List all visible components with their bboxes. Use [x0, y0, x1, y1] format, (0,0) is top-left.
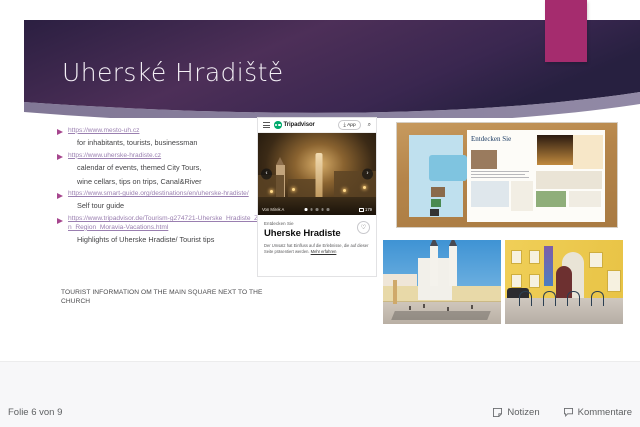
disclaimer-link[interactable]: Mehr erfahren — [311, 249, 337, 254]
triangle-bullet-icon — [57, 190, 68, 199]
yellow-building-photo — [505, 240, 623, 324]
slide-counter: Folie 6 von 9 — [8, 407, 62, 418]
list-item-description: wine cellars, tips on trips, Canal&River — [77, 177, 262, 187]
flyer-thumb — [431, 199, 441, 207]
photo-count-label: 179 — [365, 207, 372, 212]
bike-rack — [591, 291, 604, 306]
window — [607, 270, 621, 292]
brochure-photo-hands — [471, 181, 509, 207]
link-tripadvisor[interactable]: https://www.tripadvisor.de/Tourism-g2747… — [68, 215, 262, 232]
square-ground — [258, 197, 376, 215]
street-light — [343, 189, 346, 192]
triangle-bullet-icon — [57, 215, 68, 224]
plaza-shadow — [391, 311, 491, 320]
tripadvisor-brand-label: Tripadvisor — [284, 122, 315, 128]
status-bar: Folie 6 von 9 Notizen — [0, 361, 640, 427]
pedestrian — [423, 304, 425, 308]
download-icon: ⤓ — [343, 122, 345, 128]
bike-rack — [567, 291, 580, 306]
brochure-text-block — [569, 191, 601, 207]
link-mesto-uh[interactable]: https://www.mesto-uh.cz — [68, 126, 139, 135]
tourist-info-note: TOURIST INFORMATION OM THE MAIN SQUARE N… — [61, 288, 276, 306]
tripadvisor-body: Entdecken Sie Uherske Hradiste ♡ Der Ums… — [258, 215, 376, 260]
brochure-table — [511, 181, 533, 211]
search-icon[interactable]: ⌕ — [368, 122, 371, 129]
bike-rack — [543, 291, 556, 306]
window — [589, 252, 603, 268]
accent-rectangle — [545, 0, 587, 62]
notes-icon — [493, 408, 502, 417]
street-light — [270, 190, 273, 193]
notes-label: Notizen — [507, 407, 539, 418]
brochure-photo-people — [471, 150, 497, 169]
powerpoint-slide-view: Uherské Hradiště https://www.mesto-uh.cz… — [0, 0, 640, 427]
window — [529, 250, 540, 264]
link-list: https://www.mesto-uh.cz for inhabitants,… — [57, 126, 262, 249]
destination-kicker: Entdecken Sie — [264, 221, 370, 226]
carousel-next-icon[interactable]: › — [362, 169, 373, 180]
link-uherske-hradiste[interactable]: https://www.uherske-hradiste.cz — [68, 151, 161, 160]
church-tower-left — [430, 246, 438, 286]
list-item-description: Highlights of Uherske Hradiste/ Tourist … — [77, 235, 262, 245]
brochure-photo: Entdecken Sie — [396, 122, 618, 228]
triangle-bullet-icon — [57, 151, 68, 160]
bike-rack — [519, 291, 532, 306]
comments-label: Kommentare — [578, 407, 632, 418]
list-item-description: for inhabitants, tourists, businessman — [77, 138, 262, 148]
hamburger-icon[interactable] — [263, 121, 270, 130]
disclaimer-text: Der Umsatz hat Einfluss auf die Erlebnis… — [264, 243, 370, 255]
comments-button[interactable]: Kommentare — [564, 407, 632, 418]
tripadvisor-logo[interactable]: Tripadvisor — [274, 121, 315, 129]
photo-credit: Von Mirek A — [262, 207, 284, 212]
owl-icon — [274, 121, 282, 129]
flyer-thumb — [431, 187, 445, 197]
app-download-button[interactable]: ⤓ App — [338, 120, 360, 130]
street-light — [292, 188, 295, 191]
list-item-description: Self tour guide — [77, 201, 262, 211]
comment-bubble-icon — [564, 408, 573, 417]
window — [529, 274, 540, 288]
list-item: https://www.tripadvisor.de/Tourism-g2747… — [57, 215, 262, 232]
brochure-flyer — [409, 135, 463, 217]
tripadvisor-header: Tripadvisor ⤓ App ⌕ — [258, 118, 376, 133]
brochure-timeline — [536, 171, 602, 189]
square-church-photo — [383, 240, 501, 324]
window — [511, 250, 522, 264]
hero-carousel-image: ‹ › Von Mirek A 179 — [258, 133, 376, 215]
carousel-dots[interactable] — [305, 208, 330, 211]
plague-column — [393, 280, 397, 304]
photo-count-icon — [359, 208, 364, 212]
slide-canvas: Uherské Hradiště https://www.mesto-uh.cz… — [0, 0, 640, 361]
church-tower-right — [449, 246, 457, 286]
hanging-banner — [544, 246, 553, 286]
photo-count-badge[interactable]: 179 — [359, 207, 373, 212]
destination-heading: Uherske Hradiste — [264, 228, 370, 239]
brochure-photo-aerial — [536, 191, 566, 207]
carousel-prev-icon[interactable]: ‹ — [261, 169, 272, 180]
list-item-description: calendar of events, themed City Tours, — [77, 163, 262, 173]
triangle-bullet-icon — [57, 126, 68, 135]
list-item: https://www.smart-guide.org/destinations… — [57, 190, 262, 199]
brochure-headline: Entdecken Sie — [471, 135, 511, 143]
slide-title: Uherské Hradiště — [62, 58, 284, 87]
pedestrian — [447, 307, 449, 311]
brochure-sidebar — [573, 135, 603, 169]
pedestrian — [471, 305, 473, 309]
qr-code — [430, 209, 439, 216]
window — [511, 274, 522, 288]
link-smart-guide[interactable]: https://www.smart-guide.org/destinations… — [68, 190, 249, 199]
app-label: App — [347, 123, 356, 128]
pedestrian — [409, 306, 411, 310]
tripadvisor-screenshot: Tripadvisor ⤓ App ⌕ ‹ — [257, 117, 377, 277]
czech-map-graphic — [429, 155, 467, 181]
list-item: https://www.uherske-hradiste.cz — [57, 151, 262, 160]
list-item: https://www.mesto-uh.cz — [57, 126, 262, 135]
notes-button[interactable]: Notizen — [493, 407, 539, 418]
heart-icon[interactable]: ♡ — [357, 221, 370, 234]
street-light — [363, 186, 366, 189]
